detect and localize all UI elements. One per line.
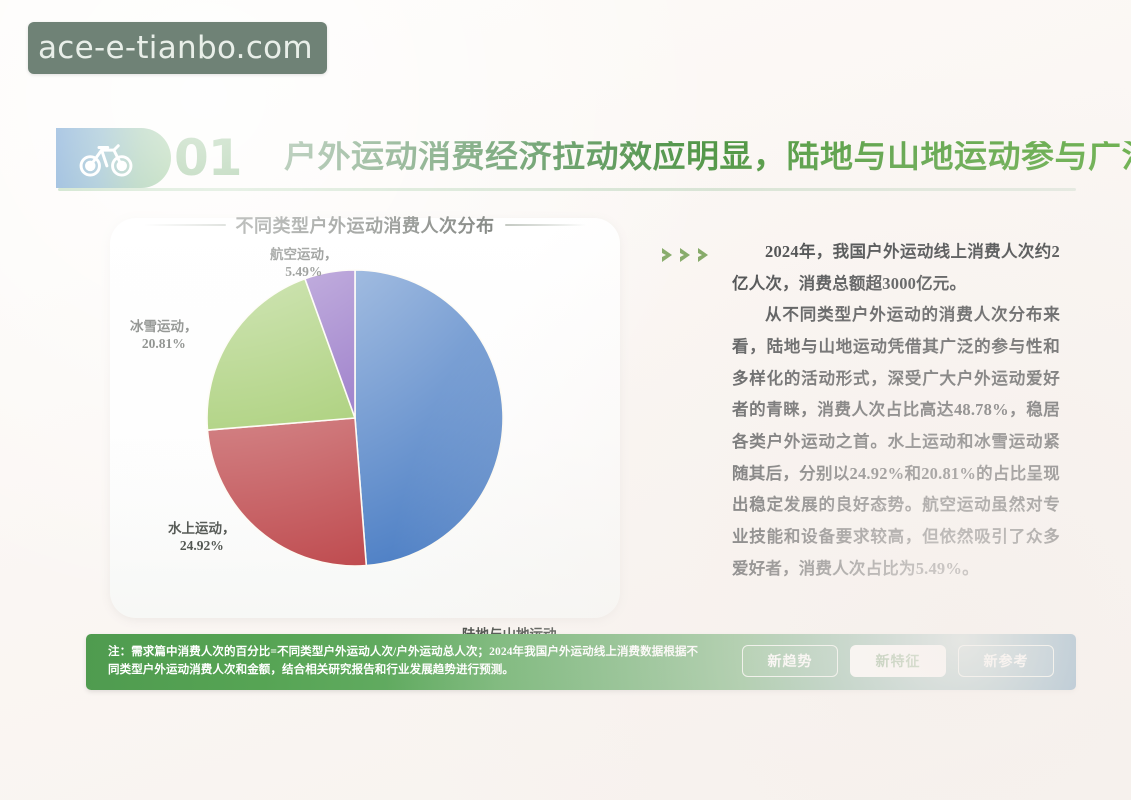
analysis-paragraph-2: 从不同类型户外运动的消费人次分布来看，陆地与山地运动凭借其广泛的参与性和多样化的… xyxy=(732,299,1060,584)
analysis-paragraph-1: 2024年，我国户外运动线上消费人次约2亿人次，消费总额超3000亿元。 xyxy=(732,236,1060,299)
watermark-text: ace-e-tianbo.com xyxy=(38,30,313,66)
pie-label-snow-ice: 冰雪运动，20.81% xyxy=(130,318,198,353)
footer-bar: 注：需求篇中消费人次的百分比=不同类型户外运动人次/户外运动总人次；2024年我… xyxy=(86,634,1076,690)
double-chevron-right-icon xyxy=(660,246,722,264)
pie-label-name: 航空运动， xyxy=(270,246,338,263)
pie-label-name: 水上运动， xyxy=(168,520,236,537)
chart-card: 不同类型户外运动消费人次分布 陆地与山地运动，48.78% 水上运动，24.92… xyxy=(110,218,620,618)
pie-label-value: 24.92% xyxy=(168,537,236,554)
section-badge xyxy=(56,128,171,188)
pie-slice xyxy=(355,270,503,566)
pie-label-aviation: 航空运动，5.49% xyxy=(270,246,338,281)
section-number: 01 xyxy=(174,133,242,183)
header-divider xyxy=(58,188,1076,191)
pie-chart: 陆地与山地运动，48.78% 水上运动，24.92% 冰雪运动，20.81% 航… xyxy=(110,218,620,618)
page-title: 户外运动消费经济拉动效应明显，陆地与山地运动参与广泛 xyxy=(284,141,1131,174)
footer-note: 注：需求篇中消费人次的百分比=不同类型户外运动人次/户外运动总人次；2024年我… xyxy=(108,643,708,680)
footer-button-group: 新趋势 新特征 新参考 xyxy=(742,645,1054,677)
analysis-text: 2024年，我国户外运动线上消费人次约2亿人次，消费总额超3000亿元。 从不同… xyxy=(732,236,1060,584)
pie-label-name: 冰雪运动， xyxy=(130,318,198,335)
footer-button-new-feature[interactable]: 新特征 xyxy=(850,645,946,677)
footer-button-new-trend[interactable]: 新趋势 xyxy=(742,645,838,677)
pie-label-water: 水上运动，24.92% xyxy=(168,520,236,555)
watermark-badge: ace-e-tianbo.com xyxy=(28,22,327,74)
pie-label-value: 5.49% xyxy=(270,263,338,280)
section-header: 01 户外运动消费经济拉动效应明显，陆地与山地运动参与广泛 xyxy=(56,128,1076,190)
slide-canvas: ace-e-tianbo.com 01 户外运动消费经济拉动效应明显，陆地与山地… xyxy=(0,0,1131,800)
pie-label-value: 20.81% xyxy=(130,335,198,352)
analysis-panel: 2024年，我国户外运动线上消费人次约2亿人次，消费总额超3000亿元。 从不同… xyxy=(660,236,1060,584)
footer-button-new-reference[interactable]: 新参考 xyxy=(958,645,1054,677)
bicycle-icon xyxy=(78,138,134,178)
